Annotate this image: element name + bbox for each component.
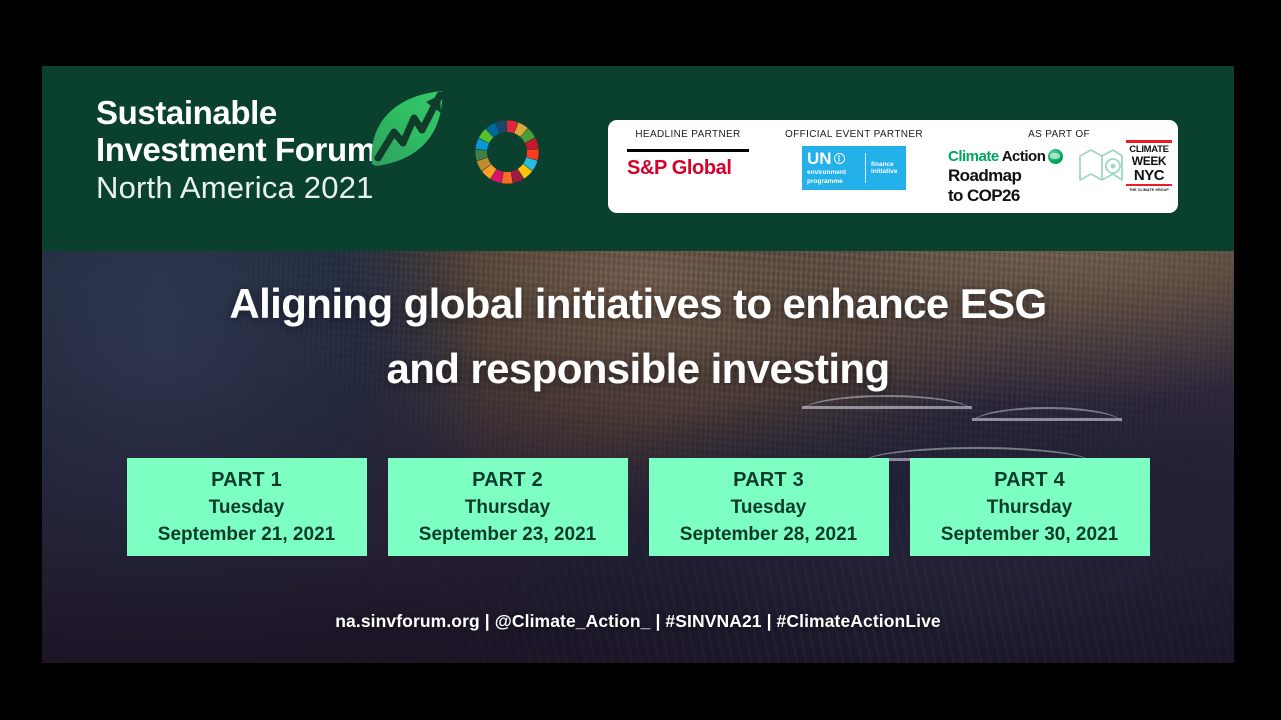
- card-day-label: Tuesday: [731, 494, 807, 521]
- card-date-label: September 30, 2021: [941, 521, 1118, 548]
- sp-global-rule: [627, 149, 749, 152]
- folded-map-pin-icon: [1078, 146, 1124, 191]
- card-date-label: September 21, 2021: [158, 521, 335, 548]
- unep-un-wordmark: UN: [807, 151, 860, 167]
- action-word: Action: [1002, 148, 1046, 165]
- sp-global-wordmark: S&P Global: [627, 157, 749, 180]
- cw-tagline: THE CLIMATE GROUP: [1126, 188, 1172, 192]
- unep-divider: [865, 153, 866, 183]
- partner-official-column: OFFICIAL EVENT PARTNER UN environment pr…: [768, 120, 940, 213]
- brand-line-2: Investment Forum: [96, 131, 376, 168]
- unep-finance-line-2: initiative: [871, 168, 897, 176]
- climate-word: Climate: [948, 148, 999, 165]
- session-card[interactable]: PART 4 Thursday September 30, 2021: [910, 458, 1150, 556]
- climate-action-globe-icon: [1048, 149, 1063, 164]
- session-card[interactable]: PART 3 Tuesday September 28, 2021: [649, 458, 889, 556]
- card-part-label: PART 1: [211, 467, 282, 494]
- partner-headline-column: HEADLINE PARTNER S&P Global: [608, 120, 768, 213]
- event-headline: Aligning global initiatives to enhance E…: [42, 271, 1234, 401]
- unep-sub-line-2: programme: [807, 178, 860, 186]
- headline-line-2: and responsible investing: [42, 336, 1234, 401]
- roadmap-line-1: Roadmap: [948, 166, 1078, 185]
- cw-top-bar: [1126, 140, 1172, 143]
- header-bar: Sustainable Investment Forum North Ameri…: [42, 66, 1234, 251]
- brand-line-1: Sustainable: [96, 94, 376, 131]
- sp-global-logo: S&P Global: [627, 149, 749, 180]
- footer-links: na.sinvforum.org | @Climate_Action_ | #S…: [42, 611, 1234, 632]
- card-part-label: PART 4: [994, 467, 1065, 494]
- card-part-label: PART 2: [472, 467, 543, 494]
- brand-line-3: North America 2021: [96, 168, 376, 208]
- leaf-growth-chart-icon: [364, 88, 450, 177]
- partners-panel: HEADLINE PARTNER S&P Global OFFICIAL EVE…: [608, 120, 1178, 213]
- card-day-label: Thursday: [465, 494, 551, 521]
- official-event-partner-label: OFFICIAL EVENT PARTNER: [768, 120, 940, 140]
- climate-week-nyc-logo: CLIMATE WEEK NYC THE CLIMATE GROUP: [1126, 140, 1172, 192]
- roadmap-line-2: to COP26: [948, 186, 1078, 205]
- card-date-label: September 23, 2021: [419, 521, 596, 548]
- session-cards-row: PART 1 Tuesday September 21, 2021 PART 2…: [42, 458, 1234, 556]
- sdg-color-wheel-icon: [473, 118, 541, 191]
- cw-line-1: CLIMATE: [1126, 144, 1172, 155]
- card-day-label: Thursday: [987, 494, 1073, 521]
- un-environment-programme-logo: UN environment programme finance initiat…: [802, 146, 906, 190]
- headline-partner-label: HEADLINE PARTNER: [608, 120, 768, 140]
- card-day-label: Tuesday: [209, 494, 285, 521]
- partner-as-part-of-column: AS PART OF Climate Action Roadmap to COP…: [940, 120, 1178, 213]
- unep-left-block: UN environment programme: [802, 151, 860, 186]
- un-globe-icon: [834, 153, 845, 164]
- as-part-of-label: AS PART OF: [940, 120, 1178, 140]
- session-card[interactable]: PART 1 Tuesday September 21, 2021: [127, 458, 367, 556]
- brand-lockup: Sustainable Investment Forum North Ameri…: [96, 94, 376, 208]
- headline-line-1: Aligning global initiatives to enhance E…: [42, 271, 1234, 336]
- event-promo-slide: Sustainable Investment Forum North Ameri…: [42, 66, 1234, 663]
- session-card[interactable]: PART 2 Thursday September 23, 2021: [388, 458, 628, 556]
- bridge-1: [802, 406, 972, 409]
- card-date-label: September 28, 2021: [680, 521, 857, 548]
- bridge-2: [972, 418, 1122, 421]
- unep-un-text: UN: [807, 151, 832, 167]
- cw-line-2: WEEK: [1126, 155, 1172, 168]
- unep-finance-line-1: finance: [871, 161, 897, 169]
- unep-sub-line-1: environment: [807, 169, 860, 177]
- cw-bottom-bar: [1126, 184, 1172, 187]
- unep-right-block: finance initiative: [871, 161, 897, 176]
- climate-action-roadmap-logo: Climate Action Roadmap to COP26: [948, 148, 1078, 205]
- card-part-label: PART 3: [733, 467, 804, 494]
- cw-line-3: NYC: [1126, 168, 1172, 184]
- climate-action-wordmark: Climate Action: [948, 148, 1078, 165]
